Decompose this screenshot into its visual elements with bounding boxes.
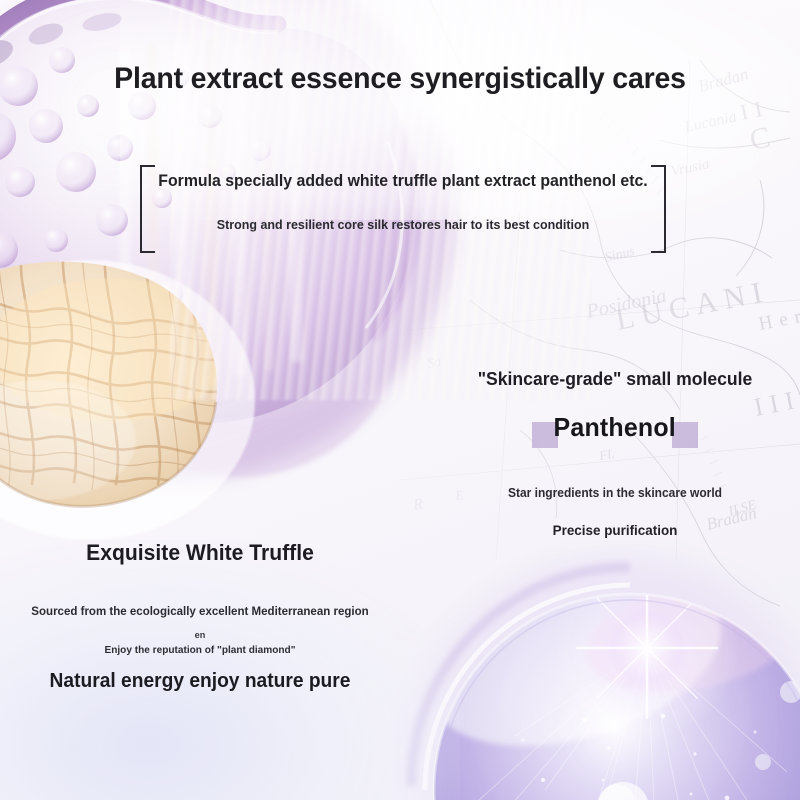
truffle-subtext-2: en xyxy=(18,630,383,641)
truffle-subtext-1: Sourced from the ecologically excellent … xyxy=(18,604,383,618)
truffle-name: Exquisite White Truffle xyxy=(18,540,383,566)
panthenol-subtext-1: Star ingredients in the skincare world xyxy=(447,486,783,500)
page-title: Plant extract essence synergistically ca… xyxy=(20,62,780,96)
claim-secondary-text: Strong and resilient core silk restores … xyxy=(151,217,656,232)
claim-bracket-block: Formula specially added white truffle pl… xyxy=(140,165,666,249)
panthenol-subtext-2: Precise purification xyxy=(447,522,783,538)
panthenol-kicker: "Skincare-grade" small molecule xyxy=(449,368,782,390)
poster-canvas: Posidonia Sinus Bradan Lucania Vrusia Br… xyxy=(0,0,800,800)
panthenol-name-row: Panthenol xyxy=(440,412,790,452)
panthenol-ingredient-block: "Skincare-grade" small molecule Pantheno… xyxy=(440,368,790,538)
panthenol-name: Panthenol xyxy=(554,412,676,443)
truffle-subtext-3: Enjoy the reputation of "plant diamond" xyxy=(18,644,383,656)
claim-primary-text: Formula specially added white truffle pl… xyxy=(151,172,656,191)
truffle-tagline: Natural energy enjoy nature pure xyxy=(18,670,383,693)
truffle-ingredient-block: Exquisite White Truffle Sourced from the… xyxy=(10,540,390,693)
poster-content: Plant extract essence synergistically ca… xyxy=(0,0,800,800)
